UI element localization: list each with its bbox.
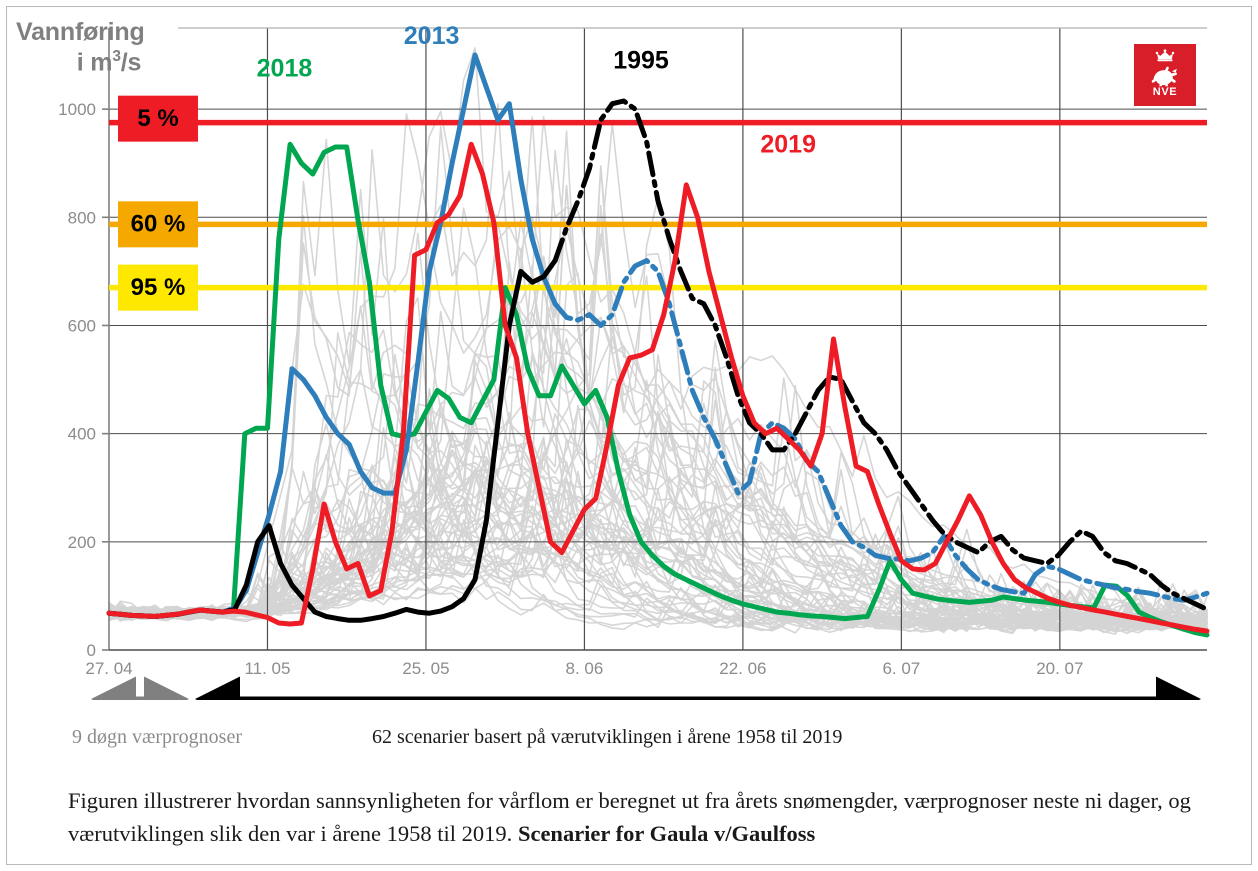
y-tick-label: 1000 <box>58 100 96 119</box>
forecast-period-caption: 9 døgn værprognoser <box>72 726 312 749</box>
series-year-labels: 2018201319952019 <box>257 22 816 158</box>
threshold-box-label: 5 % <box>137 105 178 132</box>
figure-caption: Figuren illustrerer hvordan sannsynlighe… <box>68 785 1228 850</box>
y-tick-label: 200 <box>68 533 96 552</box>
threshold-box-60%: 60 % <box>118 201 198 247</box>
y-tick-label: 0 <box>87 641 96 660</box>
y-tick-label: 400 <box>68 425 96 444</box>
figure-root: Vannføring i m3/s NVE 0200400600800 <box>0 0 1258 871</box>
hydrograph-chart: 0200400600800100027. 0411. 0525. 058. 06… <box>0 0 1258 700</box>
threshold-box-5%: 5 % <box>118 96 198 142</box>
figure-caption-bold: Scenarier for Gaula v/Gaulfoss <box>518 821 815 846</box>
threshold-box-label: 95 % <box>131 274 186 301</box>
x-tick-label: 8. 06 <box>566 659 604 678</box>
year-label-1995: 1995 <box>613 47 669 75</box>
threshold-box-label: 60 % <box>131 211 186 238</box>
scenarios-period-caption: 62 scenarier basert på værutviklingen i … <box>372 726 842 749</box>
x-tick-label: 22. 06 <box>719 659 766 678</box>
y-tick-label: 600 <box>68 316 96 335</box>
x-tick-label: 6. 07 <box>882 659 920 678</box>
x-tick-label: 20. 07 <box>1036 659 1083 678</box>
year-label-2013: 2013 <box>404 22 460 50</box>
year-label-2019: 2019 <box>760 130 816 158</box>
x-tick-label: 11. 05 <box>244 659 290 678</box>
x-tick-label: 27. 04 <box>85 659 132 678</box>
x-tick-label: 25. 05 <box>402 659 449 678</box>
y-tick-label: 800 <box>68 208 96 227</box>
threshold-box-95%: 95 % <box>118 265 198 311</box>
threshold-label-boxes: 5 %60 %95 % <box>118 96 198 311</box>
year-label-2018: 2018 <box>257 55 313 83</box>
